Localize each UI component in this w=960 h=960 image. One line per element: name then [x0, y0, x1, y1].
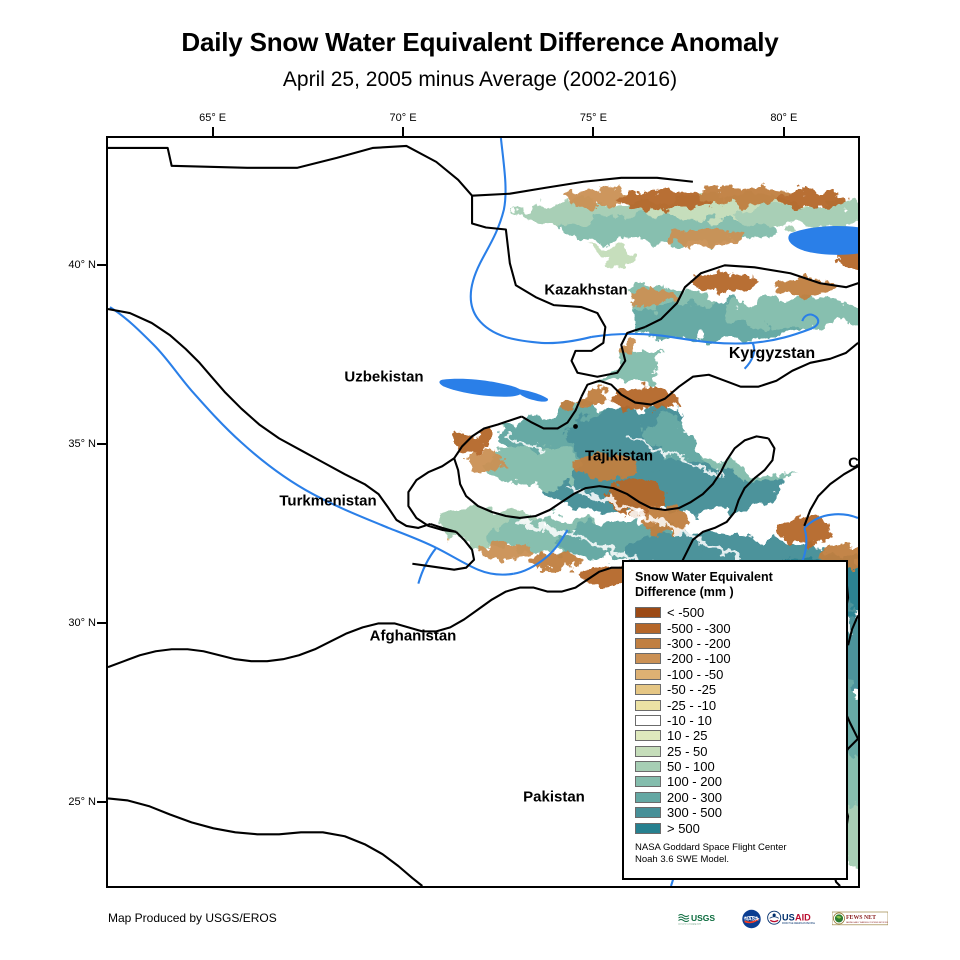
- legend-row: < -500: [635, 605, 837, 620]
- legend-label: 200 - 300: [667, 791, 722, 804]
- lat-tick-2: [97, 622, 106, 624]
- legend-label: -25 - -10: [667, 699, 716, 712]
- legend-swatch: [635, 807, 661, 818]
- legend-label: -10 - 10: [667, 714, 712, 727]
- legend-swatch: [635, 669, 661, 680]
- legend-label: -50 - -25: [667, 683, 716, 696]
- legend-row: -10 - 10: [635, 713, 837, 728]
- country-label-kazakhstan: Kazakhstan: [544, 282, 627, 299]
- country-label-pakistan: Pakistan: [523, 789, 585, 806]
- legend-label: -200 - -100: [667, 652, 731, 665]
- lat-tick-1: [97, 443, 106, 445]
- lon-tick-3: [783, 127, 785, 136]
- page-title: Daily Snow Water Equivalent Difference A…: [0, 27, 960, 58]
- legend-row: 300 - 500: [635, 805, 837, 820]
- legend-panel[interactable]: Snow Water Equivalent Difference (mm ) <…: [622, 560, 848, 880]
- legend-label: 50 - 100: [667, 760, 715, 773]
- map-credit: Map Produced by USGS/EROS: [108, 911, 277, 925]
- legend-title-line2: Difference (mm ): [635, 585, 837, 600]
- legend-label: 100 - 200: [667, 775, 722, 788]
- legend-row: > 500: [635, 820, 837, 835]
- usaid-logo: US AID FROM THE AMERICAN PEOPLE: [767, 909, 827, 929]
- legend-row: 25 - 50: [635, 744, 837, 759]
- lon-tick-1: [402, 127, 404, 136]
- legend-row: -200 - -100: [635, 651, 837, 666]
- legend-source: NASA Goddard Space Flight Center Noah 3.…: [635, 842, 837, 866]
- legend-title-line1: Snow Water Equivalent: [635, 570, 837, 585]
- country-label-turkmenistan: Turkmenistan: [279, 493, 376, 510]
- svg-text:FAMINE EARLY WARNING SYSTEMS N: FAMINE EARLY WARNING SYSTEMS NETWORK: [846, 921, 888, 924]
- legend-row: 10 - 25: [635, 728, 837, 743]
- lon-tick-0: [212, 127, 214, 136]
- legend-label: -100 - -50: [667, 668, 723, 681]
- svg-text:USGS: USGS: [691, 913, 715, 923]
- lat-tick-label-3: 25° N: [58, 796, 96, 808]
- country-label-kyrgyzstan: Kyrgyzstan: [729, 345, 815, 363]
- lon-tick-2: [592, 127, 594, 136]
- legend-swatch: [635, 715, 661, 726]
- legend-swatch: [635, 700, 661, 711]
- legend-label: 25 - 50: [667, 745, 707, 758]
- legend-label: > 500: [667, 822, 700, 835]
- country-label-uzbekistan: Uzbekistan: [344, 369, 423, 386]
- legend-row: -300 - -200: [635, 636, 837, 651]
- legend-class-list: < -500-500 - -300-300 - -200-200 - -100-…: [635, 605, 837, 836]
- legend-swatch: [635, 823, 661, 834]
- legend-label: -500 - -300: [667, 622, 731, 635]
- legend-label: < -500: [667, 606, 704, 619]
- legend-row: 50 - 100: [635, 759, 837, 774]
- lon-tick-label-2: 75° E: [580, 112, 607, 124]
- lon-tick-label-1: 70° E: [390, 112, 417, 124]
- legend-label: 10 - 25: [667, 729, 707, 742]
- legend-title: Snow Water Equivalent Difference (mm ): [635, 570, 837, 600]
- lon-tick-label-0: 65° E: [199, 112, 226, 124]
- lat-tick-0: [97, 264, 106, 266]
- legend-swatch: [635, 653, 661, 664]
- nasa-logo: NASA: [741, 909, 762, 929]
- lat-tick-label-2: 30° N: [58, 617, 96, 629]
- legend-swatch: [635, 792, 661, 803]
- fewsnet-logo: FEWS NET FAMINE EARLY WARNING SYSTEMS NE…: [832, 909, 888, 929]
- legend-row: -25 - -10: [635, 697, 837, 712]
- legend-swatch: [635, 746, 661, 757]
- lon-tick-label-3: 80° E: [770, 112, 797, 124]
- legend-swatch: [635, 761, 661, 772]
- legend-row: -100 - -50: [635, 667, 837, 682]
- svg-text:AID: AID: [795, 912, 811, 922]
- legend-swatch: [635, 730, 661, 741]
- legend-row: 200 - 300: [635, 790, 837, 805]
- lat-tick-label-0: 40° N: [58, 259, 96, 271]
- svg-text:FEWS NET: FEWS NET: [846, 915, 876, 921]
- country-label-china: China: [848, 455, 860, 472]
- legend-label: 300 - 500: [667, 806, 722, 819]
- svg-text:FROM THE AMERICAN PEOPLE: FROM THE AMERICAN PEOPLE: [782, 922, 816, 925]
- legend-row: -500 - -300: [635, 620, 837, 635]
- country-label-tajikistan: Tajikistan: [585, 448, 653, 465]
- logo-bar: USGS science for a changing world NASA U…: [678, 906, 888, 932]
- country-label-afghanistan: Afghanistan: [370, 628, 457, 645]
- city-dot: [573, 424, 578, 429]
- lat-tick-3: [97, 801, 106, 803]
- legend-swatch: [635, 623, 661, 634]
- svg-text:science for a changing world: science for a changing world: [678, 924, 701, 926]
- legend-row: 100 - 200: [635, 774, 837, 789]
- page-subtitle: April 25, 2005 minus Average (2002-2016): [0, 68, 960, 92]
- svg-text:US: US: [782, 912, 795, 922]
- usgs-logo: USGS science for a changing world: [678, 909, 736, 929]
- legend-swatch: [635, 776, 661, 787]
- legend-swatch: [635, 638, 661, 649]
- svg-text:NASA: NASA: [744, 917, 759, 923]
- legend-swatch: [635, 684, 661, 695]
- legend-swatch: [635, 607, 661, 618]
- lat-tick-label-1: 35° N: [58, 438, 96, 450]
- legend-label: -300 - -200: [667, 637, 731, 650]
- legend-row: -50 - -25: [635, 682, 837, 697]
